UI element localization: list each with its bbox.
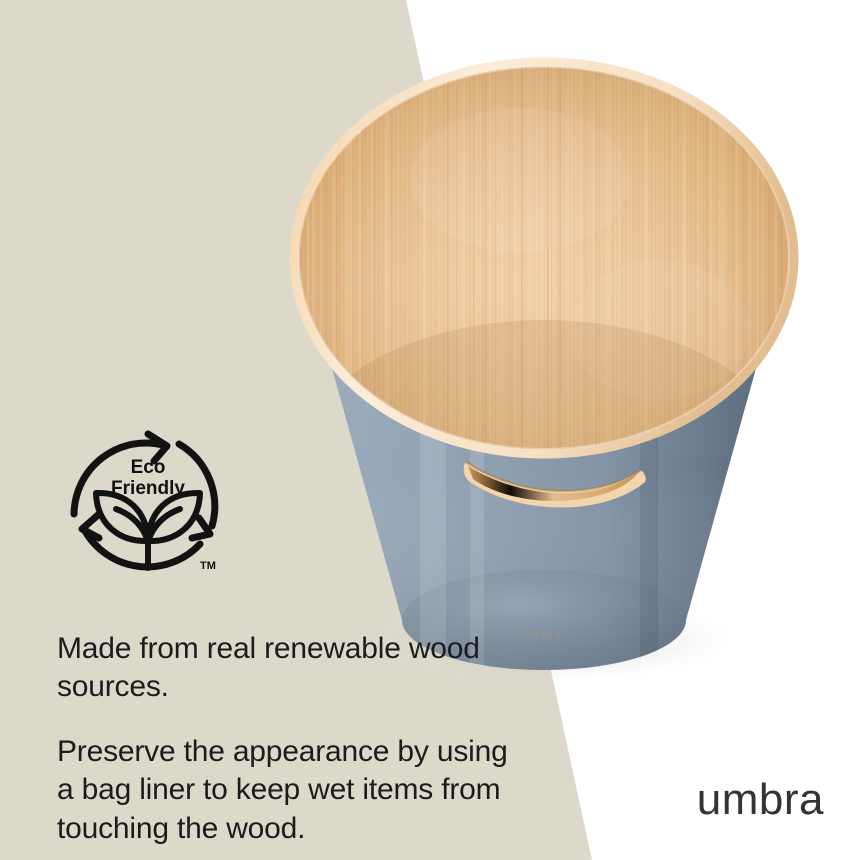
badge-line-1: Eco [131, 457, 166, 478]
marketing-copy: Made from real renewable wood sources. P… [57, 630, 527, 848]
copy-paragraph-2: Preserve the appearance by using a bag l… [57, 733, 527, 848]
product-marketing-image: umbra [0, 0, 860, 860]
copy-paragraph-1: Made from real renewable wood sources. [57, 630, 527, 707]
badge-line-2: Friendly [111, 478, 185, 499]
brand-wordmark: umbra [697, 778, 824, 822]
eco-friendly-badge: Eco Friendly TM [62, 408, 234, 590]
badge-trademark: TM [200, 560, 216, 572]
